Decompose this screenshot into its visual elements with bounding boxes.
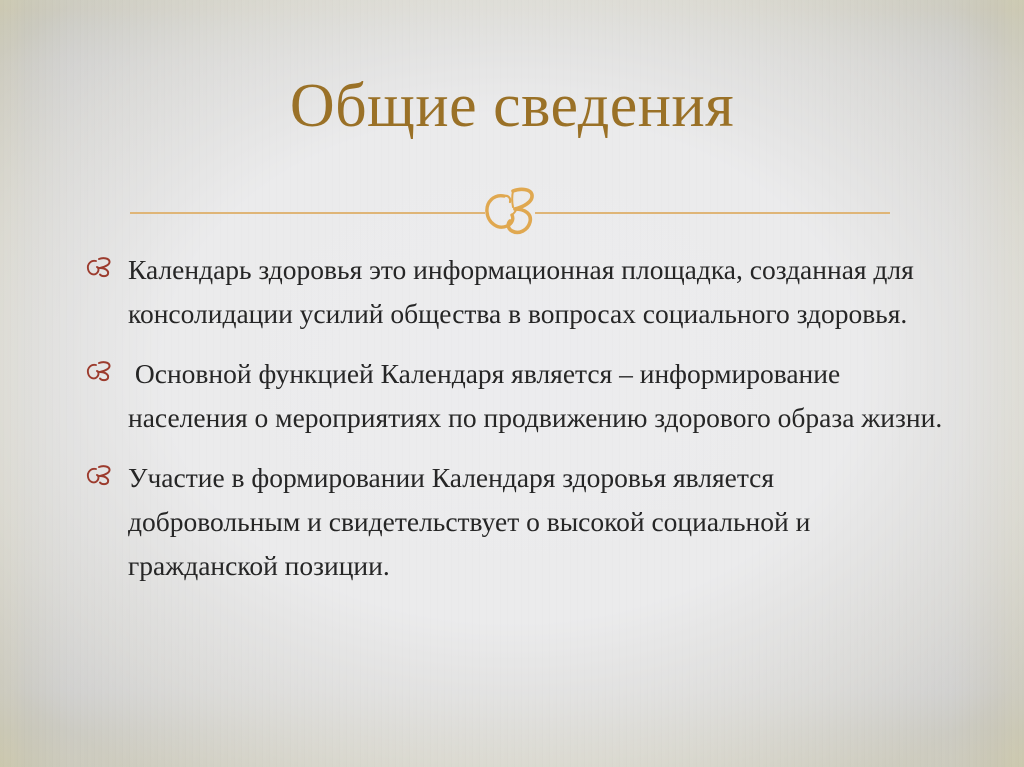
- presentation-slide: Общие сведения: [0, 0, 1024, 767]
- slide-title-block: Общие сведения: [0, 74, 1024, 139]
- floral-flourish-ornament-icon: [479, 183, 541, 241]
- page-title: Общие сведения: [0, 74, 1024, 139]
- list-item-text: Основной функцией Календаря является – и…: [128, 352, 952, 440]
- list-item-text: Календарь здоровья это информационная пл…: [128, 248, 952, 336]
- floral-bullet-ornament-icon: [86, 456, 128, 485]
- divider-rule-right: [535, 212, 890, 214]
- list-item: Основной функцией Календаря является – и…: [86, 352, 952, 440]
- divider-rule-left: [130, 212, 485, 214]
- slide-body-content: Календарь здоровья это информационная пл…: [86, 248, 952, 588]
- floral-bullet-ornament-icon: [86, 352, 128, 381]
- list-item: Календарь здоровья это информационная пл…: [86, 248, 952, 336]
- list-item-text: Участие в формировании Календаря здоровь…: [128, 456, 952, 588]
- list-item: Участие в формировании Календаря здоровь…: [86, 456, 952, 588]
- title-divider: [130, 200, 890, 226]
- floral-bullet-ornament-icon: [86, 248, 128, 277]
